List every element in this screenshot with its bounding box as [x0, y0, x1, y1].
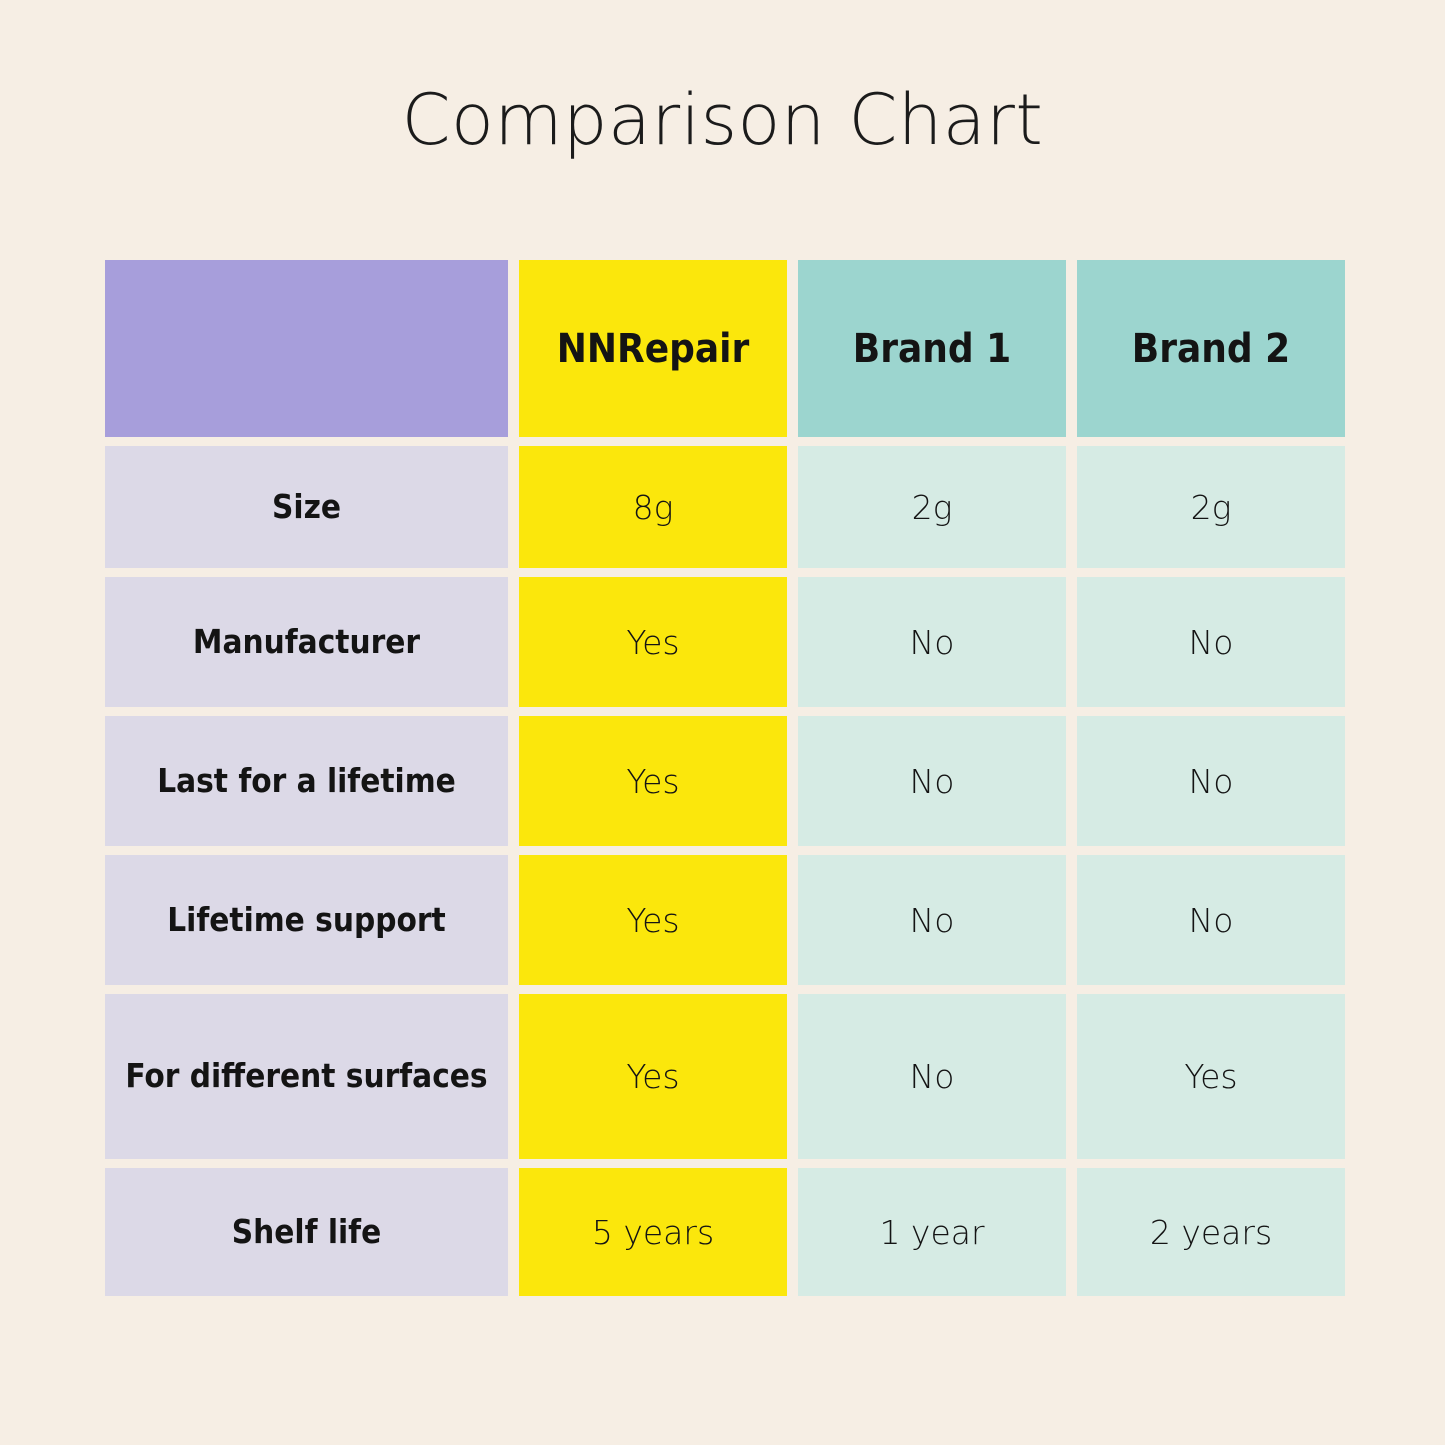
- cell-size-nnrepair: 8g: [519, 446, 787, 568]
- cell-lifetime-support-brand-1: No: [798, 855, 1066, 985]
- cell-for-different-surfaces-nnrepair: Yes: [519, 994, 787, 1159]
- cell-last-for-a-lifetime-brand-2: No: [1077, 716, 1345, 846]
- cell-shelf-life-nnrepair: 5 years: [519, 1168, 787, 1296]
- cell-lifetime-support-nnrepair: Yes: [519, 855, 787, 985]
- row-label-last-for-a-lifetime: Last for a lifetime: [105, 716, 508, 846]
- row-label-manufacturer: Manufacturer: [105, 577, 508, 707]
- cell-shelf-life-brand-2: 2 years: [1077, 1168, 1345, 1296]
- row-label-shelf-life: Shelf life: [105, 1168, 508, 1296]
- comparison-table: NNRepair Brand 1 Brand 2 Size 8g 2g 2g M…: [105, 260, 1341, 1296]
- cell-lifetime-support-brand-2: No: [1077, 855, 1345, 985]
- row-label-for-different-surfaces: For different surfaces: [105, 994, 508, 1159]
- table-header-blank-cell: [105, 260, 508, 437]
- cell-manufacturer-brand-2: No: [1077, 577, 1345, 707]
- page-title: Comparison Chart: [0, 82, 1445, 159]
- row-label-lifetime-support: Lifetime support: [105, 855, 508, 985]
- table-header-brand-2: Brand 2: [1077, 260, 1345, 437]
- cell-manufacturer-brand-1: No: [798, 577, 1066, 707]
- cell-manufacturer-nnrepair: Yes: [519, 577, 787, 707]
- table-header-nnrepair: NNRepair: [519, 260, 787, 437]
- cell-size-brand-1: 2g: [798, 446, 1066, 568]
- cell-last-for-a-lifetime-brand-1: No: [798, 716, 1066, 846]
- cell-shelf-life-brand-1: 1 year: [798, 1168, 1066, 1296]
- table-header-brand-1: Brand 1: [798, 260, 1066, 437]
- comparison-chart-page: Comparison Chart NNRepair Brand 1 Brand …: [0, 0, 1445, 1445]
- cell-for-different-surfaces-brand-1: No: [798, 994, 1066, 1159]
- cell-last-for-a-lifetime-nnrepair: Yes: [519, 716, 787, 846]
- cell-size-brand-2: 2g: [1077, 446, 1345, 568]
- row-label-size: Size: [105, 446, 508, 568]
- cell-for-different-surfaces-brand-2: Yes: [1077, 994, 1345, 1159]
